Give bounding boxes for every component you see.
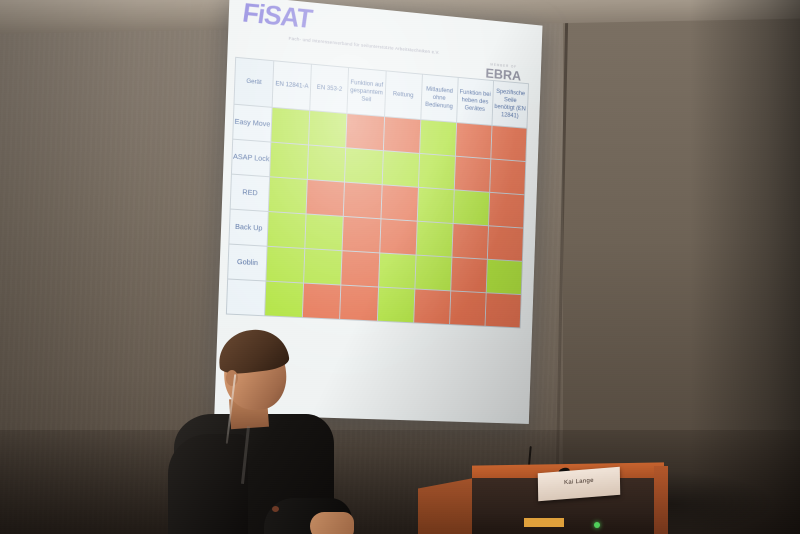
matrix-cell-yes (305, 214, 344, 251)
matrix-cell-yes (267, 212, 306, 249)
matrix-cell-no (383, 117, 421, 154)
matrix-cell-no (413, 289, 450, 325)
matrix-cell-yes (382, 151, 420, 188)
row-header-device: Easy Move (233, 104, 273, 142)
matrix-cell-yes (271, 107, 310, 145)
matrix-cell-no (344, 182, 382, 219)
column-header-rescue: Rettung (384, 71, 422, 120)
nameplate-text: Kai Lange (538, 476, 620, 488)
matrix-cell-yes (265, 281, 304, 318)
column-header-function-lifting-device: Funktion bei heben des Gerätes (456, 77, 493, 125)
lectern-right-edge (654, 466, 668, 534)
lectern-shadow (658, 472, 778, 534)
row-header-device: Goblin (228, 244, 268, 281)
fisat-subtitle: Fach- und Interessenverband für seilunte… (289, 36, 521, 63)
matrix-cell-yes (266, 246, 305, 283)
matrix-cell-no (340, 285, 378, 321)
lectern-badge (524, 518, 564, 527)
matrix-cell-yes (418, 153, 455, 189)
lapel-mic-icon (272, 506, 279, 512)
column-header-en-353-2: EN 353-2 (310, 64, 349, 113)
device-comparison-table: Gerät EN 12841-A EN 353-2 Funktion auf g… (226, 57, 529, 329)
matrix-cell-yes (416, 221, 453, 257)
matrix-cell-yes (419, 120, 456, 157)
matrix-cell-yes (345, 148, 383, 185)
row-header-device: Back Up (229, 209, 269, 246)
matrix-cell-no (346, 114, 384, 151)
table-body: Easy MoveASAP LockREDBack UpGoblin (226, 104, 527, 328)
matrix-cell-yes (268, 177, 307, 214)
presentation-photo: FiSAT Fach- und Interessenverband für se… (0, 0, 800, 534)
speaker-shoulder (168, 434, 248, 534)
matrix-cell-no (452, 223, 489, 259)
matrix-cell-no (303, 283, 342, 319)
matrix-cell-yes (308, 145, 347, 182)
matrix-cell-no (306, 179, 345, 216)
row-header-device: ASAP Lock (231, 139, 271, 177)
matrix-cell-no (379, 219, 417, 255)
matrix-cell-yes (378, 253, 416, 289)
matrix-cell-no (491, 125, 527, 161)
column-header-function-tensioned-rope: Funktion auf gespanntem Seil (347, 68, 385, 117)
matrix-cell-no (490, 159, 526, 195)
matrix-cell-no (488, 192, 524, 228)
speaker-hand (310, 512, 354, 534)
lectern-side-panel (418, 478, 474, 534)
row-header-device (226, 279, 266, 316)
row-header-device: RED (230, 174, 270, 211)
column-header-trailing-no-operation: Mitlaufend ohne Bedienung (420, 74, 457, 122)
matrix-cell-no (454, 156, 491, 192)
matrix-cell-no (455, 123, 492, 159)
lectern: Kai Lange (418, 452, 706, 534)
matrix-cell-yes (417, 187, 454, 223)
matrix-cell-yes (486, 259, 522, 294)
column-header-en-12841a: EN 12841-A (272, 61, 311, 111)
matrix-cell-no (380, 185, 418, 221)
matrix-cell-no (451, 257, 488, 293)
matrix-cell-yes (377, 287, 415, 323)
column-header-device: Gerät (234, 57, 274, 107)
matrix-cell-no (342, 216, 380, 252)
matrix-cell-yes (453, 190, 490, 226)
speaker-person (168, 330, 353, 534)
slide-brand: FiSAT (242, 0, 312, 33)
matrix-cell-no (485, 293, 521, 328)
fisat-logo: FiSAT (241, 0, 314, 33)
matrix-cell-yes (270, 142, 309, 179)
matrix-cell-no (341, 251, 379, 287)
matrix-cell-no (487, 226, 523, 262)
column-header-specific-ropes-required: Spezifische Seile benötigt (EN 12841) (492, 81, 529, 129)
matrix-cell-no (449, 291, 486, 326)
matrix-cell-yes (309, 110, 348, 147)
matrix-cell-yes (304, 248, 343, 285)
power-led-icon (594, 522, 600, 528)
matrix-cell-yes (415, 255, 452, 291)
